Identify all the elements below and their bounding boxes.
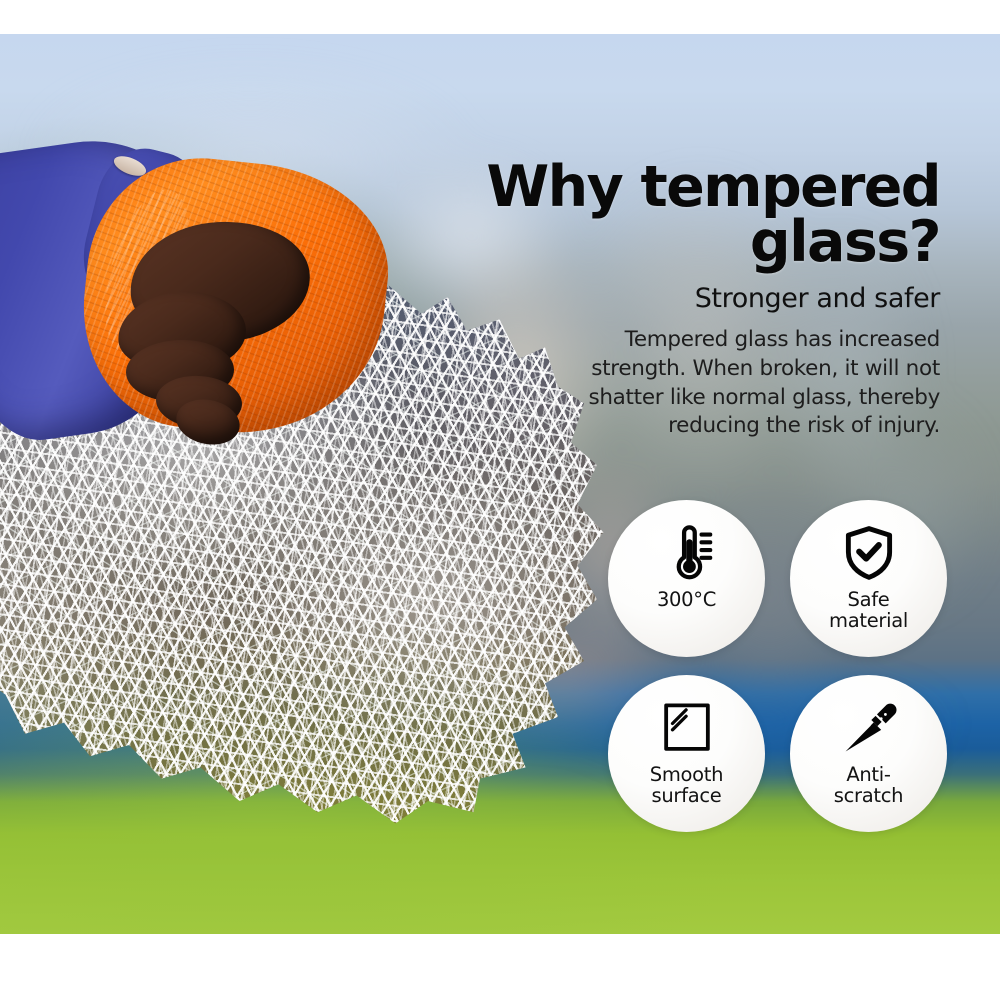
feature-caption: Anti- scratch (834, 765, 903, 807)
promo-banner: Why tempered glass? Stronger and safer T… (0, 0, 1000, 1000)
body-copy: Tempered glass has increased strength. W… (470, 326, 940, 440)
body-line-3: shatter like normal glass, thereby (470, 384, 940, 413)
feature-caption-line: material (829, 611, 908, 632)
feature-caption: Safe material (829, 590, 908, 632)
feature-caption-line: Anti- (834, 765, 903, 786)
marketing-copy: Why tempered glass? Stronger and safer T… (470, 160, 940, 441)
feature-caption: Smooth surface (650, 765, 723, 807)
subheadline: Stronger and safer (470, 283, 940, 314)
feature-caption-line: surface (650, 786, 723, 807)
product-photo: Why tempered glass? Stronger and safer T… (0, 34, 1000, 934)
feature-badge-temperature: 300°C (608, 500, 765, 657)
headline-line-1: Why tempered (470, 160, 940, 215)
body-line-2: strength. When broken, it will not (470, 355, 940, 384)
feature-badge-safe-material: Safe material (790, 500, 947, 657)
body-line-4: reducing the risk of injury. (470, 412, 940, 441)
thermometer-icon (656, 522, 718, 584)
headline-line-2: glass? (470, 215, 940, 270)
knife-icon (839, 697, 899, 759)
worker-arm (0, 144, 400, 474)
feature-badge-anti-scratch: Anti- scratch (790, 675, 947, 832)
feature-badge-smooth-surface: Smooth surface (608, 675, 765, 832)
feature-caption-line: scratch (834, 786, 903, 807)
feature-badges: 300°C Safe material (608, 500, 956, 872)
feature-caption-line: Smooth (650, 765, 723, 786)
headline: Why tempered glass? (470, 160, 940, 269)
feature-caption: 300°C (657, 590, 716, 611)
glass-pane-icon (658, 697, 716, 759)
body-line-1: Tempered glass has increased (470, 326, 940, 355)
feature-caption-line: 300°C (657, 590, 716, 611)
feature-caption-line: Safe (829, 590, 908, 611)
shield-check-icon (839, 522, 899, 584)
